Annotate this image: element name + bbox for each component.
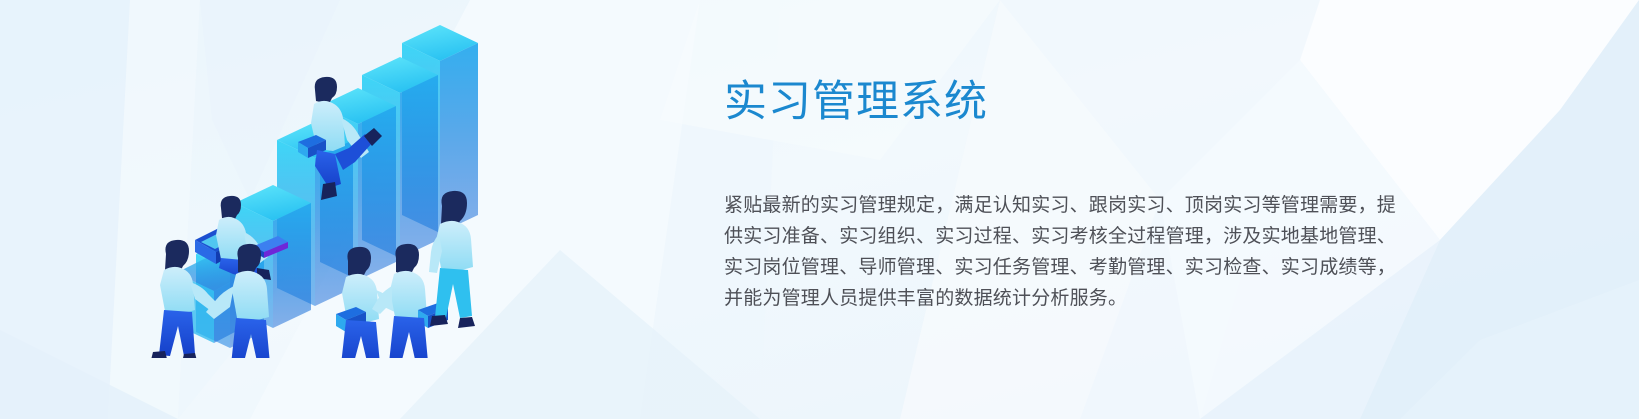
hero-description: 紧贴最新的实习管理规定，满足认知实习、跟岗实习、顶岗实习等管理需要，提供实习准备… bbox=[724, 190, 1396, 314]
hero-banner: 实习管理系统 紧贴最新的实习管理规定，满足认知实习、跟岗实习、顶岗实习等管理需要… bbox=[0, 0, 1639, 419]
isometric-growth-chart-illustration bbox=[140, 18, 500, 358]
page-title: 实习管理系统 bbox=[724, 74, 1404, 130]
hero-text-block: 实习管理系统 紧贴最新的实习管理规定，满足认知实习、跟岗实习、顶岗实习等管理需要… bbox=[724, 74, 1404, 314]
